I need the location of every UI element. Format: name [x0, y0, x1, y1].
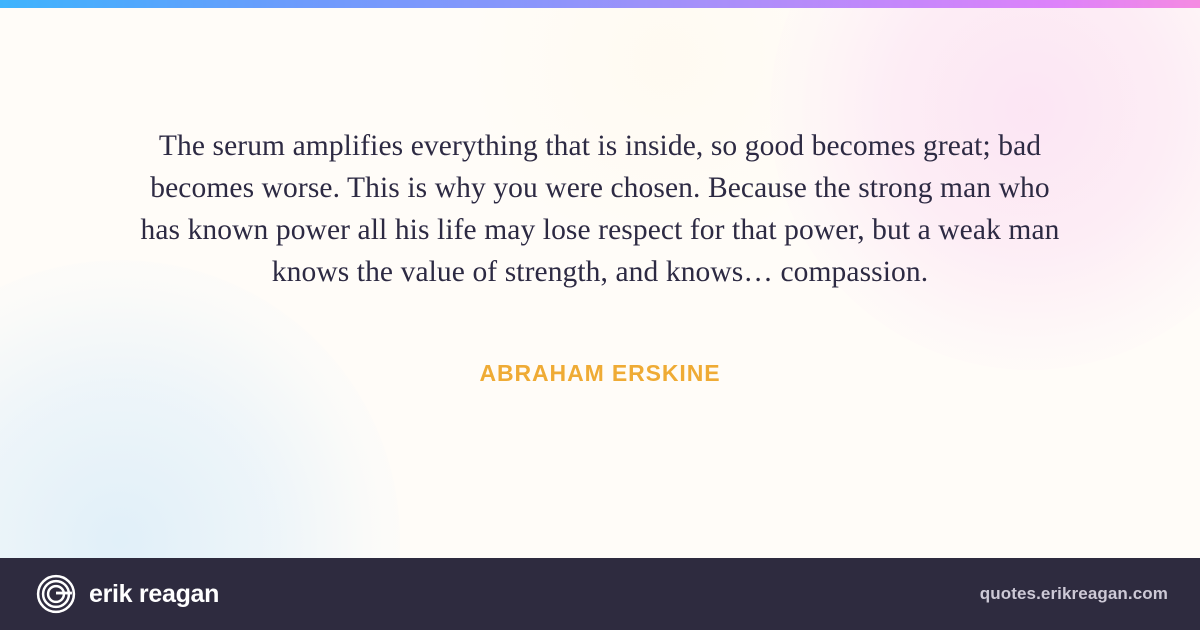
quote-text: The serum amplifies everything that is i…	[140, 125, 1060, 293]
quote-card: The serum amplifies everything that is i…	[0, 0, 1200, 630]
site-url-label[interactable]: quotes.erikreagan.com	[980, 584, 1168, 604]
gradient-accent-bar	[0, 0, 1200, 8]
footer-bar: erik reagan quotes.erikreagan.com	[0, 558, 1200, 630]
quote-author: ABRAHAM ERSKINE	[480, 360, 721, 387]
brand-name-label: erik reagan	[89, 580, 219, 609]
brand-lockup[interactable]: erik reagan	[36, 574, 219, 614]
concentric-circle-e-logo-icon	[36, 574, 76, 614]
quote-content: The serum amplifies everything that is i…	[0, 8, 1200, 558]
